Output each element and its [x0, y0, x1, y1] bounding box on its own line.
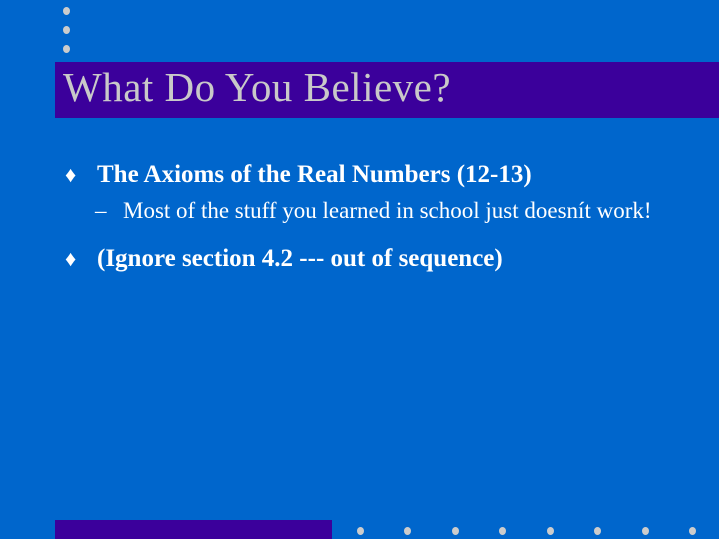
- decorative-dot-icon: [63, 7, 70, 15]
- decorative-dot-icon: [452, 527, 459, 535]
- slide-title: What Do You Believe?: [63, 59, 451, 115]
- decorative-dot-icon: [547, 527, 554, 535]
- bullet-level2: – Most of the stuff you learned in schoo…: [55, 195, 683, 227]
- decorative-dot-icon: [404, 527, 411, 535]
- bullet-level1: ♦ The Axioms of the Real Numbers (12-13): [55, 158, 695, 192]
- decorative-dot-icon: [594, 527, 601, 535]
- decorative-dot-icon: [689, 527, 696, 535]
- footer-band: [55, 520, 332, 539]
- slide-title-band: What Do You Believe?: [55, 62, 719, 118]
- diamond-bullet-icon: ♦: [65, 158, 76, 192]
- decorative-dot-icon: [499, 527, 506, 535]
- decorative-dot-icon: [642, 527, 649, 535]
- bullet-level1: ♦ (Ignore section 4.2 --- out of sequenc…: [55, 242, 695, 276]
- bullet-text: Most of the stuff you learned in school …: [123, 198, 652, 223]
- dash-bullet-icon: –: [95, 195, 107, 227]
- decorative-dot-icon: [63, 26, 70, 34]
- presentation-slide: What Do You Believe? ♦ The Axioms of the…: [0, 0, 719, 539]
- diamond-bullet-icon: ♦: [65, 242, 76, 276]
- bullet-text: The Axioms of the Real Numbers (12-13): [97, 161, 532, 188]
- bullet-text: (Ignore section 4.2 --- out of sequence): [97, 245, 503, 272]
- bullet-spacer: [55, 235, 695, 242]
- decorative-dot-icon: [63, 45, 70, 53]
- slide-body: ♦ The Axioms of the Real Numbers (12-13)…: [55, 158, 695, 279]
- decorative-dot-icon: [357, 527, 364, 535]
